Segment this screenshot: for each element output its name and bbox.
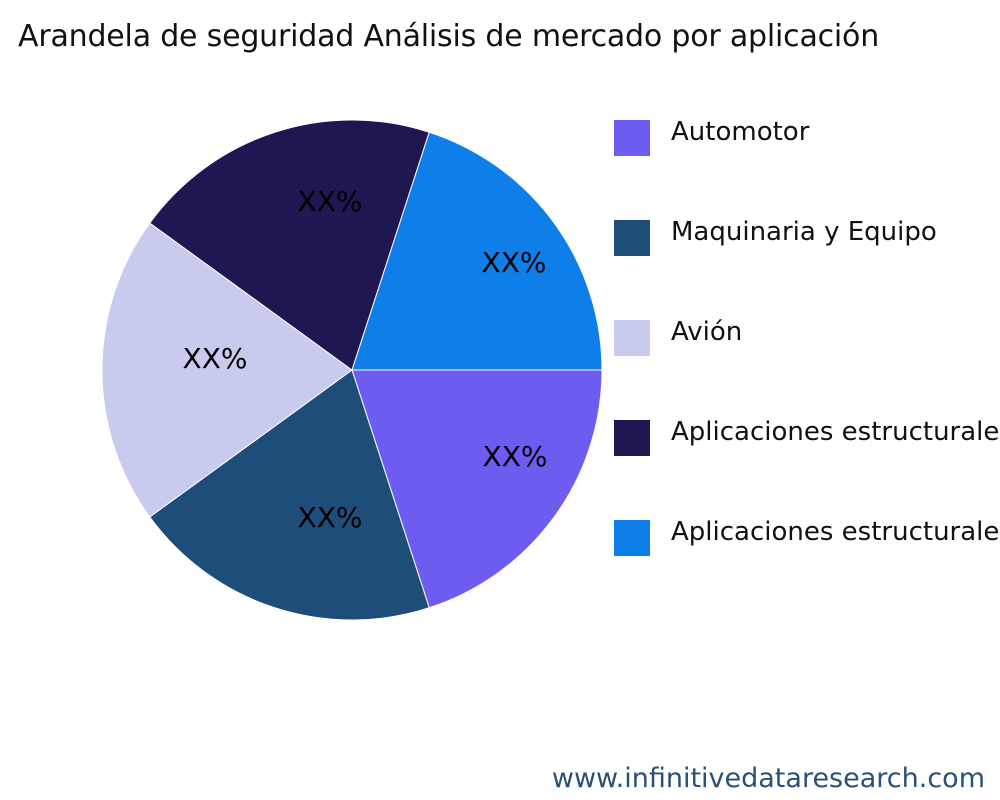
pie-slice-label-aplicaciones-estructurales-1: XX% xyxy=(298,188,363,216)
legend-swatch-icon xyxy=(614,320,650,356)
legend-swatch-icon xyxy=(614,220,650,256)
legend-item-label: Maquinaria y Equipo xyxy=(671,212,937,252)
legend-item[interactable]: Avión xyxy=(614,312,1000,412)
legend-item[interactable]: Maquinaria y Equipo xyxy=(614,212,1000,312)
legend-item-label: Avión xyxy=(671,312,742,352)
legend-swatch-icon xyxy=(614,520,650,556)
pie-chart-svg xyxy=(0,90,610,650)
legend-item-label: Aplicaciones estructurales xyxy=(671,412,1000,452)
legend-item[interactable]: Aplicaciones estructurales xyxy=(614,412,1000,512)
pie-slice-label-automotor: XX% xyxy=(483,443,548,471)
legend-item[interactable]: Aplicaciones estructurales xyxy=(614,512,1000,612)
legend-item[interactable]: Automotor xyxy=(614,112,1000,212)
legend-item-label: Aplicaciones estructurales xyxy=(671,512,1000,552)
pie-slice-label-avion: XX% xyxy=(183,345,248,373)
pie-chart: XX%XX%XX%XX%XX% xyxy=(0,90,610,650)
pie-slice-label-maquinaria-y-equipo: XX% xyxy=(298,504,363,532)
pie-slice-label-aplicaciones-estructurales-2: XX% xyxy=(482,249,547,277)
legend: AutomotorMaquinaria y EquipoAviónAplicac… xyxy=(614,112,1000,612)
legend-item-label: Automotor xyxy=(671,112,809,152)
legend-swatch-icon xyxy=(614,420,650,456)
legend-swatch-icon xyxy=(614,120,650,156)
source-url: www.infinitivedataresearch.com xyxy=(0,762,985,796)
page-title: Arandela de seguridad Análisis de mercad… xyxy=(18,17,1000,57)
